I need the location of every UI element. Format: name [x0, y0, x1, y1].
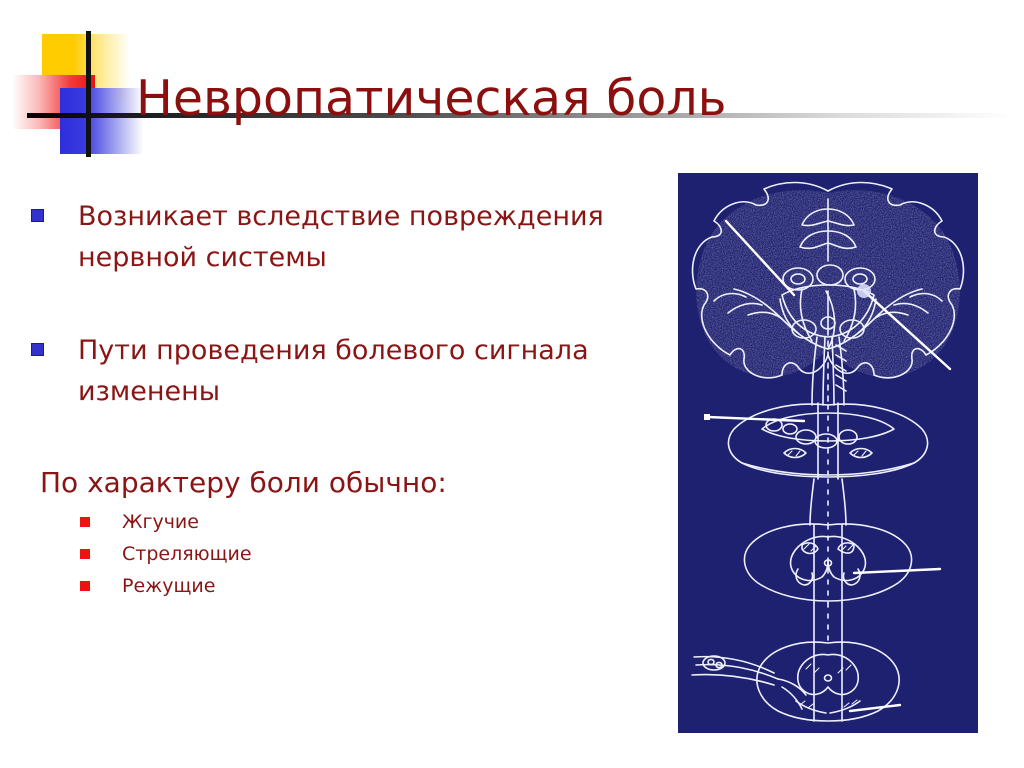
list-item: Возникает вследствие повреждения нервной…: [0, 196, 640, 278]
list-item-label: Пути проведения болевого сигнала изменен…: [78, 330, 640, 412]
pain-pathway-figure: [678, 173, 978, 733]
sub-list: Жгучие Стреляющие Режущие: [0, 506, 640, 602]
list-item-label: Режущие: [122, 575, 215, 597]
list-item-label: Жгучие: [122, 511, 199, 533]
spacer: [0, 416, 640, 458]
red-square-bullet-icon: [80, 549, 90, 559]
page-title: Невропатическая боль: [136, 69, 956, 129]
list-item: Жгучие: [0, 506, 640, 538]
list-item: Пути проведения болевого сигнала изменен…: [0, 330, 640, 412]
blue-square-bullet-icon: [31, 209, 44, 222]
red-block-icon: [12, 75, 95, 129]
blue-block-icon: [60, 88, 143, 154]
list-item: Стреляющие: [0, 538, 640, 570]
blue-square-bullet-icon: [31, 343, 44, 356]
slide: Невропатическая боль Возникает вследстви…: [0, 0, 1024, 768]
list-item-label: Возникает вследствие повреждения нервной…: [78, 196, 640, 278]
red-square-bullet-icon: [80, 581, 90, 591]
list-item-label: Стреляющие: [122, 543, 252, 565]
spacer: [0, 282, 640, 330]
body-content: Возникает вследствие повреждения нервной…: [0, 196, 640, 602]
section-heading: По характеру боли обычно:: [0, 462, 640, 504]
vertical-rule-icon: [86, 31, 91, 157]
red-square-bullet-icon: [80, 517, 90, 527]
list-item: Режущие: [0, 570, 640, 602]
yellow-block-icon: [42, 34, 130, 102]
